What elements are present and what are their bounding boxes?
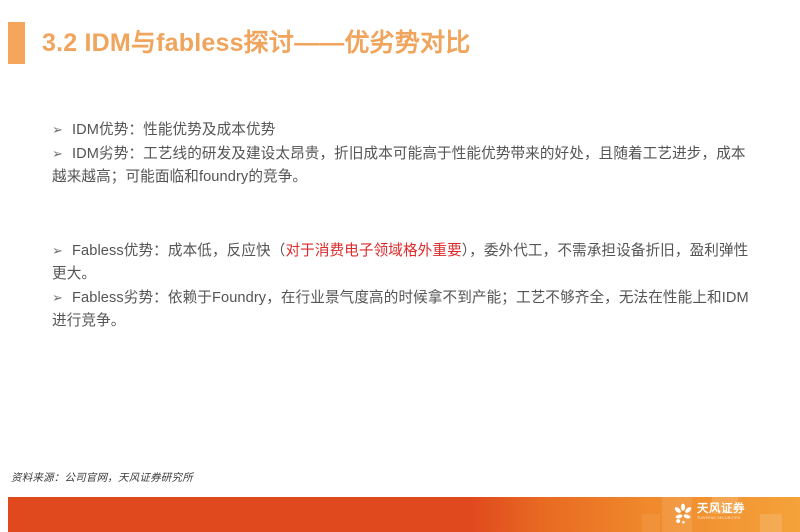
- source-note: 资料来源：公司官网，天风证券研究所: [11, 470, 193, 485]
- flower-logo-icon: [672, 503, 694, 525]
- footer-block-accent: [760, 514, 782, 532]
- arrow-bullet-icon: ➢: [52, 118, 72, 141]
- footer-block-accent: [642, 514, 660, 532]
- arrow-bullet-icon: ➢: [52, 239, 72, 262]
- logo-subtitle: TIANFENG SECURITIES: [697, 516, 740, 521]
- bullet-group-idm: ➢IDM优势：性能优势及成本优势 ➢IDM劣势：工艺线的研发及建设太昂贵，折旧成…: [52, 118, 752, 189]
- bullet-text: IDM优势：性能优势及成本优势: [72, 122, 275, 138]
- bullet-text: Fabless优势：成本低，反应快（: [72, 243, 285, 259]
- bullet-idm-advantage: ➢IDM优势：性能优势及成本优势: [52, 118, 752, 142]
- slide-title-row: 3.2 IDM与fabless探讨——优劣势对比: [0, 20, 800, 66]
- slide-body: ➢IDM优势：性能优势及成本优势 ➢IDM劣势：工艺线的研发及建设太昂贵，折旧成…: [52, 118, 752, 333]
- page-title: 3.2 IDM与fabless探讨——优劣势对比: [42, 20, 470, 66]
- company-logo: 天风证券 TIANFENG SECURITIES: [672, 501, 752, 527]
- bullet-text: Fabless劣势：依赖于Foundry，在行业景气度高的时候拿不到产能；工艺不…: [52, 290, 749, 329]
- title-accent-bar: [8, 22, 25, 64]
- arrow-bullet-icon: ➢: [52, 286, 72, 309]
- bullet-fabless-advantage: ➢Fabless优势：成本低，反应快（对于消费电子领域格外重要），委外代工，不需…: [52, 239, 752, 286]
- slide-canvas: 3.2 IDM与fabless探讨——优劣势对比 ➢IDM优势：性能优势及成本优…: [0, 0, 800, 532]
- arrow-bullet-icon: ➢: [52, 142, 72, 165]
- bullet-group-fabless: ➢Fabless优势：成本低，反应快（对于消费电子领域格外重要），委外代工，不需…: [52, 239, 752, 333]
- bullet-fabless-disadvantage: ➢Fabless劣势：依赖于Foundry，在行业景气度高的时候拿不到产能；工艺…: [52, 286, 752, 333]
- bullet-text: IDM劣势：工艺线的研发及建设太昂贵，折旧成本可能高于性能优势带来的好处，且随着…: [52, 146, 746, 185]
- bullet-idm-disadvantage: ➢IDM劣势：工艺线的研发及建设太昂贵，折旧成本可能高于性能优势带来的好处，且随…: [52, 142, 752, 189]
- logo-company-name: 天风证券: [697, 503, 745, 516]
- highlighted-text: 对于消费电子领域格外重要: [285, 243, 461, 259]
